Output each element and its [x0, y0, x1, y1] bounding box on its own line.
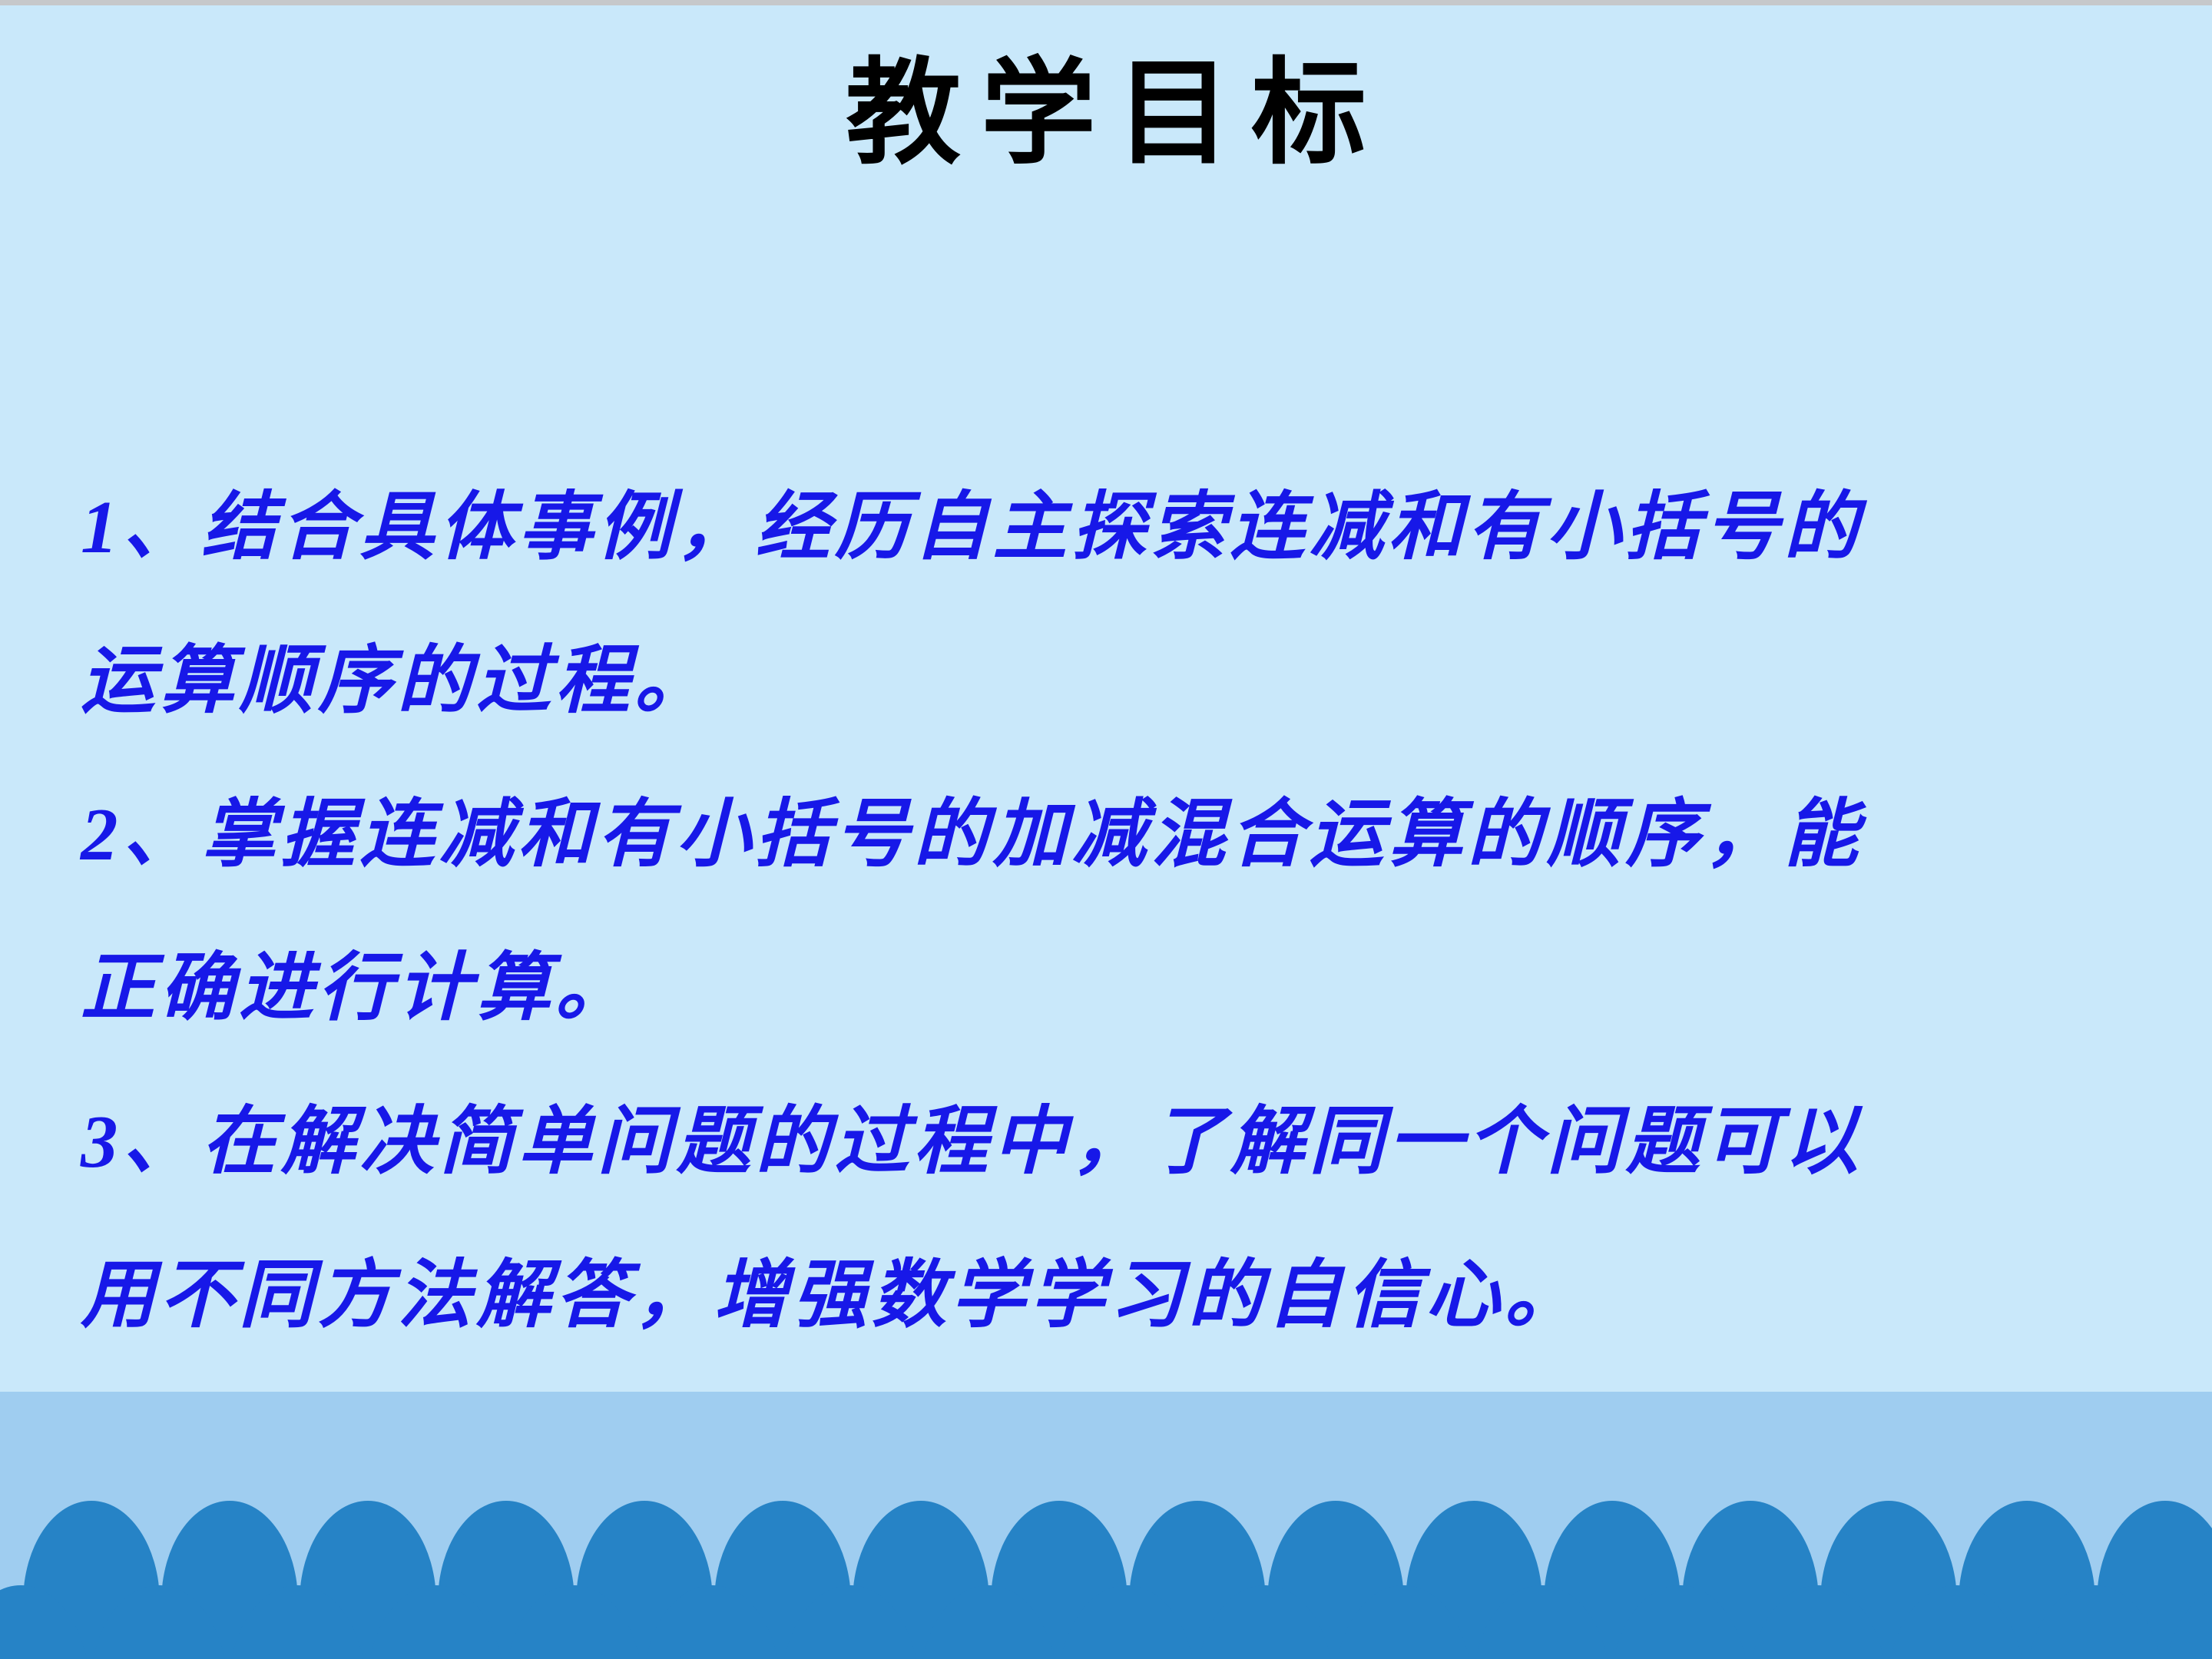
dome-row-front: [0, 1585, 2212, 1659]
objective-line-5: 3、在解决简单问题的过程中，了解同一个问题可以: [81, 1065, 2154, 1219]
objectives-list: 1、结合具体事例，经历自主探索连减和有小括号的 运算顺序的过程。 2、掌握连减和…: [81, 451, 2154, 1373]
dome-front-shape: [2026, 1585, 2163, 1659]
dome-front-shape: [367, 1585, 504, 1659]
slide-canvas: 教学目标 1、结合具体事例，经历自主探索连减和有小括号的 运算顺序的过程。 2、…: [0, 0, 2212, 1659]
dome-front-shape: [920, 1585, 1057, 1659]
slide-content-area: 教学目标 1、结合具体事例，经历自主探索连减和有小括号的 运算顺序的过程。 2、…: [0, 5, 2212, 1392]
dome-front-shape: [782, 1585, 919, 1659]
objective-line-3: 2、掌握连减和有小括号的加减混合运算的顺序，能: [81, 758, 2154, 912]
dome-front-shape: [1611, 1585, 1748, 1659]
dome-front-shape: [2164, 1585, 2212, 1659]
dome-front-shape: [1888, 1585, 2025, 1659]
objective-line-1: 1、结合具体事例，经历自主探索连减和有小括号的: [81, 451, 2154, 604]
dome-front-shape: [505, 1585, 642, 1659]
objective-line-4: 正确进行计算。: [81, 912, 2154, 1065]
dome-front-shape: [0, 1585, 89, 1659]
top-edge-strip: [0, 0, 2212, 5]
dome-front-shape: [1058, 1585, 1195, 1659]
bottom-decorative-band: [0, 1392, 2212, 1659]
objective-line-2: 运算顺序的过程。: [81, 604, 2154, 758]
dome-front-shape: [1335, 1585, 1472, 1659]
dome-front-shape: [1197, 1585, 1333, 1659]
dome-front-shape: [644, 1585, 780, 1659]
dome-front-shape: [91, 1585, 227, 1659]
dome-front-shape: [229, 1585, 366, 1659]
dome-front-shape: [1750, 1585, 1886, 1659]
page-title: 教学目标: [0, 41, 2212, 188]
dome-front-shape: [1473, 1585, 1610, 1659]
objective-line-6: 用不同方法解答，增强数学学习的自信心。: [81, 1219, 2154, 1373]
